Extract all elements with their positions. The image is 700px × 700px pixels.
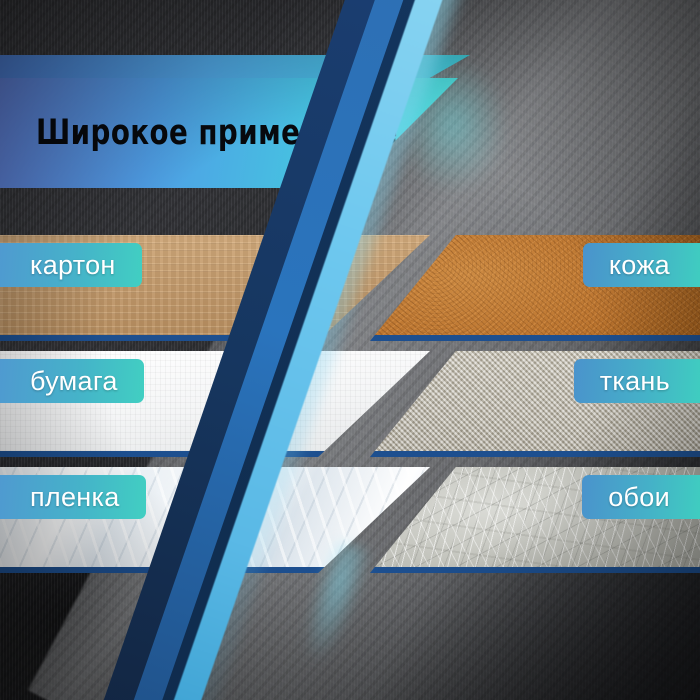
material-label-tkan[interactable]: ткань bbox=[574, 359, 700, 403]
material-row: картон кожа bbox=[0, 235, 700, 341]
poster-canvas: Широкое применение картон кожа бумага тк… bbox=[0, 0, 700, 700]
material-label-bumaga[interactable]: бумага bbox=[0, 359, 144, 403]
material-label-kartón[interactable]: картон bbox=[0, 243, 142, 287]
page-title: Широкое применение bbox=[36, 113, 398, 153]
material-label-kozha[interactable]: кожа bbox=[583, 243, 700, 287]
banner-top-accent bbox=[0, 55, 470, 79]
material-label-plenka[interactable]: пленка bbox=[0, 475, 146, 519]
material-label-oboi[interactable]: обои bbox=[582, 475, 700, 519]
material-row: пленка обои bbox=[0, 467, 700, 573]
material-row: бумага ткань bbox=[0, 351, 700, 457]
